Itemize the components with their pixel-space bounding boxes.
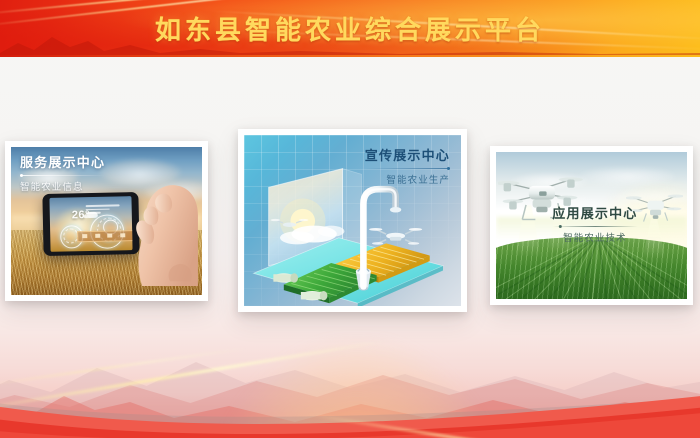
smart-agriculture-platform-page: 如东县智能农业综合展示平台 26° [0,0,700,438]
hud-block [82,234,87,238]
card-publicity-divider [365,168,450,169]
card-application-title-block: 应用展示中心 智能农业技术 [552,208,637,244]
hand-icon [133,180,198,287]
card-service-inner: 26° [11,147,202,295]
hud-block [108,233,113,237]
card-service-display-center[interactable]: 26° [5,141,208,301]
phone-screen: 26° [50,196,133,252]
hud-readout-strip [77,229,132,241]
hud-bar-2 [86,208,110,210]
hud-block [95,234,100,238]
card-service-title-block: 服务展示中心 智能农业信息 [20,157,105,193]
card-service-divider [20,175,105,176]
card-application-subtitle: 智能农业技术 [552,230,637,244]
ribbon-red-secondary [0,390,700,438]
card-publicity-subtitle: 智能农业生产 [365,172,450,186]
card-application-divider [552,226,637,227]
card-service-title: 服务展示中心 [20,157,105,171]
card-publicity-title-block: 宣传展示中心 智能农业生产 [365,150,450,186]
card-application-title: 应用展示中心 [552,208,637,222]
card-publicity-display-center[interactable]: 宣传展示中心 智能农业生产 [238,129,467,312]
header-banner: 如东县智能农业综合展示平台 [0,0,700,57]
card-publicity-title: 宣传展示中心 [365,150,450,164]
hud-block [121,233,126,237]
smartphone: 26° [43,192,140,256]
card-service-subtitle: 智能农业信息 [20,179,105,193]
hud-bar-1 [86,204,120,206]
banner-bottom-line [0,55,700,57]
card-application-display-center[interactable]: 应用展示中心 智能农业技术 [490,146,693,305]
cloud-band-2 [580,167,675,186]
page-title: 如东县智能农业综合展示平台 [0,0,700,57]
card-application-inner: 应用展示中心 智能农业技术 [496,152,687,299]
card-publicity-inner: 宣传展示中心 智能农业生产 [244,135,461,306]
hud-bar-3 [86,212,101,214]
